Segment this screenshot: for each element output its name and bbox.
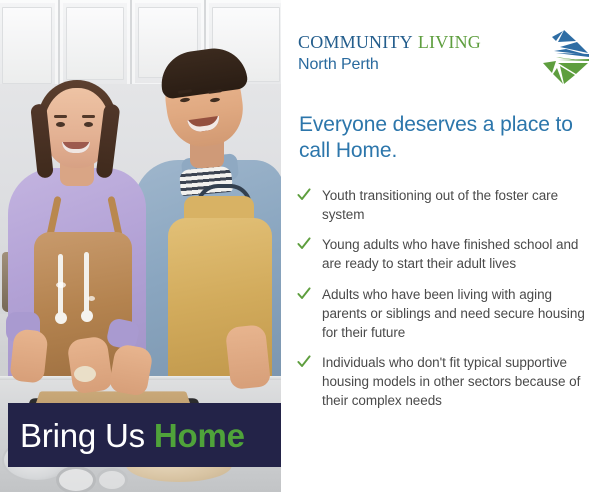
woman-eye <box>84 122 93 127</box>
cabinet-icon <box>60 0 132 90</box>
check-icon <box>296 286 316 307</box>
logo-word-living: Living <box>418 27 481 54</box>
logo-word-community: Community <box>298 27 413 54</box>
list-item: Youth transitioning out of the foster ca… <box>296 186 591 224</box>
diamond-sunburst-logo-icon <box>536 27 592 87</box>
list-item-label: Individuals who don't fit typical suppor… <box>322 353 591 410</box>
banner-text-white: Bring Us <box>20 417 154 454</box>
list-item-label: Youth transitioning out of the foster ca… <box>322 186 591 224</box>
flour-smudge <box>88 296 95 301</box>
check-icon <box>296 187 316 208</box>
woman-eyebrow <box>54 115 67 118</box>
woman-apron-tie-knot <box>55 312 67 324</box>
woman-eye <box>56 122 65 127</box>
woman-eyebrow <box>82 115 95 118</box>
woman-apron-tie <box>84 252 89 314</box>
bring-us-home-banner: Bring Us Home <box>8 403 281 467</box>
page-title: Everyone deserves a place to call Home. <box>299 112 579 163</box>
banner-text: Bring Us Home <box>8 419 245 452</box>
cookie-cutter <box>56 466 96 492</box>
logo-subtitle: North Perth <box>298 56 530 74</box>
woman-apron-tie-knot <box>81 310 93 322</box>
poster: Bring Us Home CommunityLiving North Pert… <box>0 0 600 500</box>
organization-logo: CommunityLiving North Perth <box>298 28 588 94</box>
list-item: Individuals who don't fit typical suppor… <box>296 353 591 410</box>
hand <box>225 324 271 390</box>
cookie-cutter <box>96 468 128 492</box>
logo-primary-line: CommunityLiving <box>298 28 530 53</box>
cabinet-icon <box>0 0 60 94</box>
list-item: Adults who have been living with aging p… <box>296 285 591 342</box>
list-item: Young adults who have finished school an… <box>296 235 591 273</box>
list-item-label: Young adults who have finished school an… <box>322 235 591 273</box>
check-icon <box>296 236 316 257</box>
logo-wordmark: CommunityLiving North Perth <box>298 28 530 74</box>
check-icon <box>296 354 316 375</box>
list-item-label: Adults who have been living with aging p… <box>322 285 591 342</box>
content-panel: CommunityLiving North Perth <box>286 0 600 500</box>
dough-ball <box>74 366 96 382</box>
flour-smudge <box>56 282 66 288</box>
audience-list: Youth transitioning out of the foster ca… <box>296 186 591 422</box>
hand <box>66 335 113 394</box>
hand <box>9 328 48 383</box>
banner-text-green: Home <box>154 417 245 454</box>
